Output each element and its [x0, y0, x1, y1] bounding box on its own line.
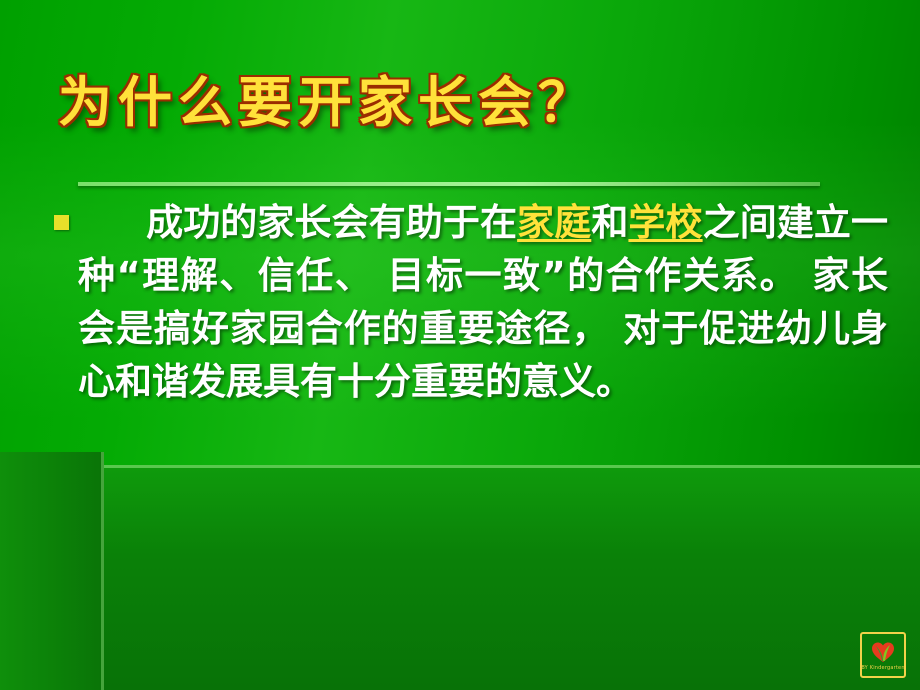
logo-caption: BY Kindergarten: [861, 665, 904, 671]
lower-left-panel: [0, 452, 104, 690]
title-divider: [78, 182, 820, 186]
keyword-school: 学校: [628, 201, 702, 244]
lower-content-panel: [104, 465, 920, 690]
panel-top-edge: [104, 465, 920, 468]
logo-leaf-heart-icon: [870, 640, 896, 664]
panel-left-edge: [101, 452, 104, 690]
slide-title: 为什么要开家长会？: [58, 58, 598, 137]
body-paragraph: 成功的家长会有助于在家庭和学校之间建立一种“理解、信任、 目标一致”的合作关系。…: [78, 196, 888, 408]
slide-canvas: 为什么要开家长会？ 成功的家长会有助于在家庭和学校之间建立一种“理解、信任、 目…: [0, 0, 920, 690]
kindergarten-logo: BY Kindergarten: [860, 632, 906, 678]
body-segment-1: 成功的家长会有助于在: [146, 201, 517, 244]
bullet-square-icon: [54, 215, 69, 230]
body-segment-2: 和: [591, 201, 628, 244]
keyword-family: 家庭: [517, 201, 591, 244]
